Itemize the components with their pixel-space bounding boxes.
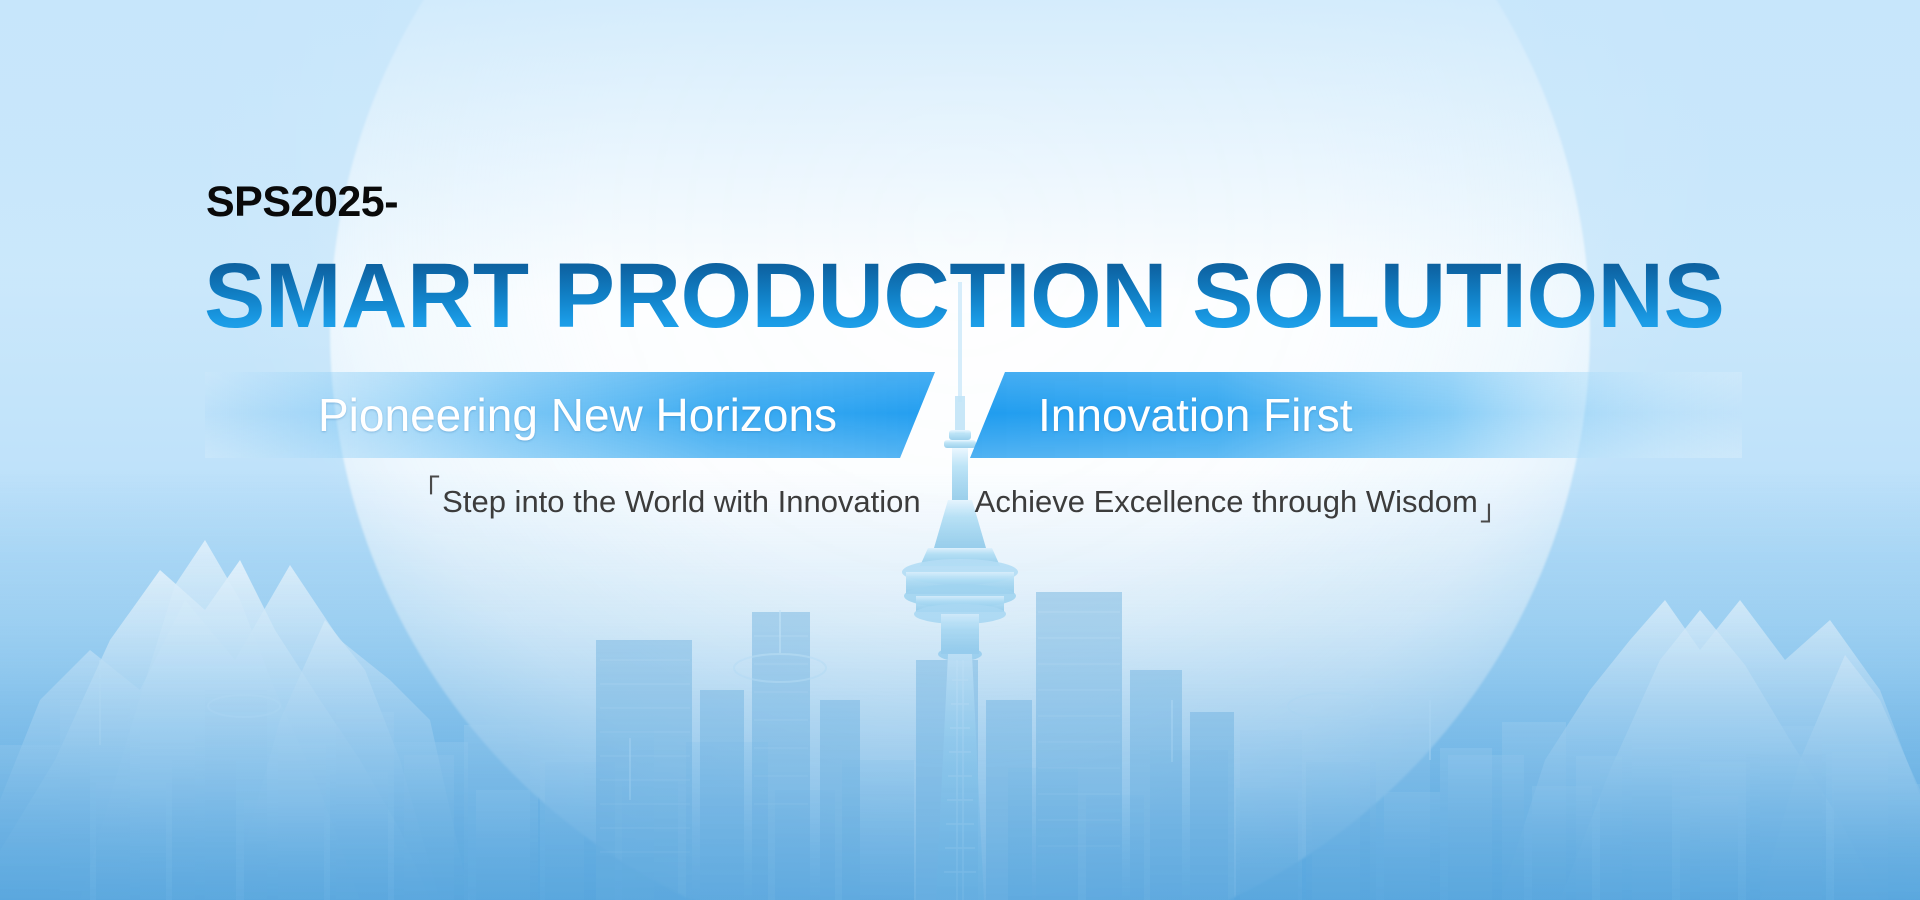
subtitle-right-text: Achieve Excellence through Wisdom [975,486,1478,517]
banner-content: SPS2025- SMART PRODUCTION SOLUTIONS [0,0,1920,900]
event-eyebrow-title: SPS2025- [206,181,398,224]
bracket-close-icon: 」 [1480,497,1509,526]
ribbon-label-left: Pioneering New Horizons [318,372,837,458]
page-title: SMART PRODUCTION SOLUTIONS [204,250,1724,342]
tagline-ribbon [0,372,1920,458]
ribbon-label-right: Innovation First [1038,372,1352,458]
bracket-open-icon: 「 [411,477,440,506]
promo-banner: SPS2025- SMART PRODUCTION SOLUTIONS [0,0,1920,900]
subtitle-row: 「 Step into the World with Innovation Ac… [0,486,1920,517]
subtitle-left-text: Step into the World with Innovation [442,486,921,517]
